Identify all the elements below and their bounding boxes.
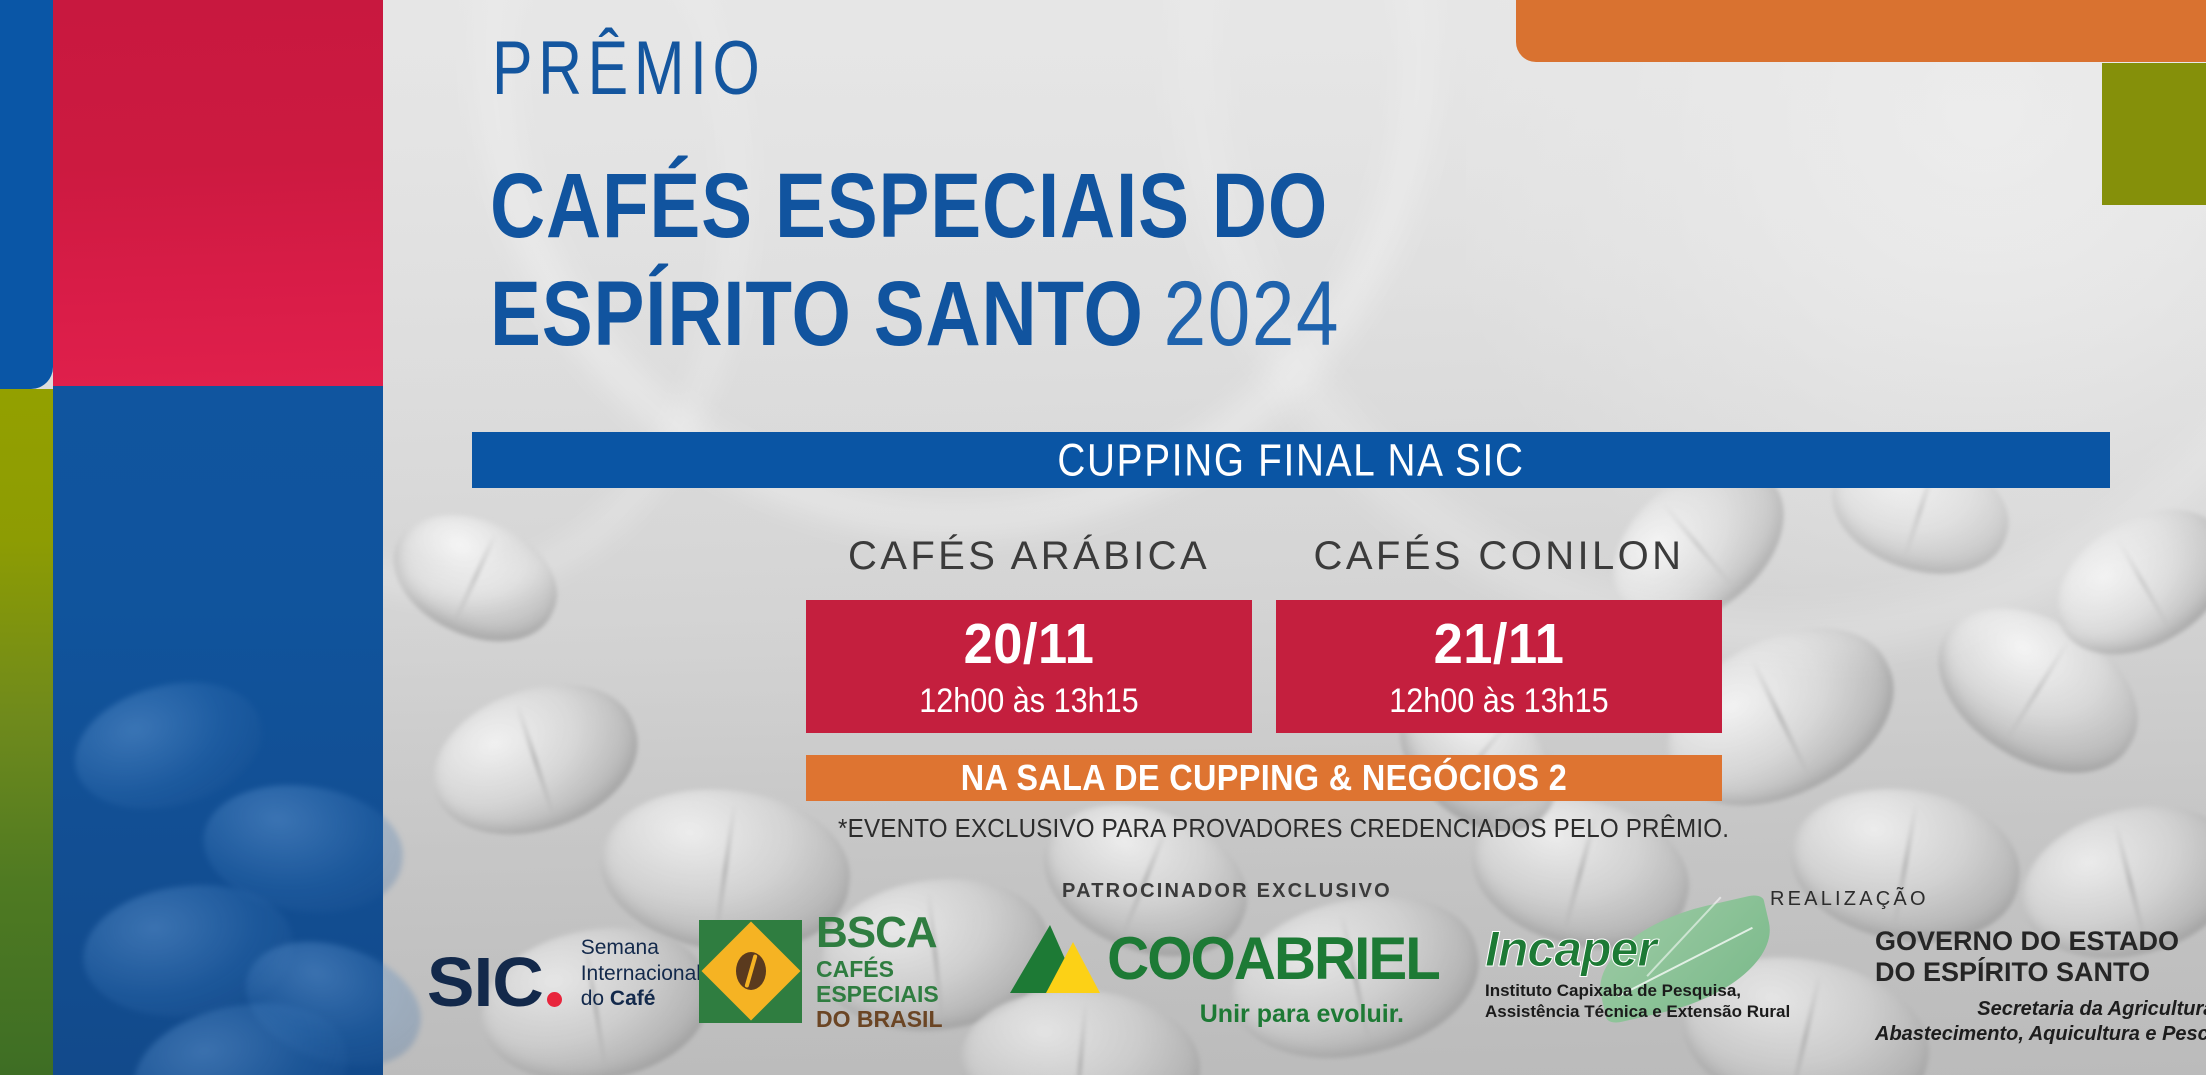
sic-wordmark: SIC bbox=[427, 951, 543, 1014]
session-date-card-arabica: 20/11 12h00 às 13h15 bbox=[806, 600, 1252, 733]
top-orange-bar bbox=[1516, 0, 2206, 62]
governo-title: GOVERNO DO ESTADO DO ESPÍRITO SANTO bbox=[1875, 926, 2206, 989]
governo-title-line1: GOVERNO DO ESTADO bbox=[1875, 926, 2179, 956]
footnote-text: *EVENTO EXCLUSIVO PARA PROVADORES CREDEN… bbox=[838, 815, 1690, 841]
bsca-sub3: DO BRASIL bbox=[816, 1008, 943, 1031]
sic-tagline: Semana Internacional do Café bbox=[581, 935, 701, 1012]
edition-year: 2024 bbox=[1164, 268, 1341, 360]
session-category-arabica: CAFÉS ARÁBICA bbox=[806, 536, 1252, 576]
event-banner-label: CUPPING FINAL NA SIC bbox=[587, 438, 1996, 483]
cooabriel-lockup: COOABRIEL bbox=[1032, 925, 1422, 993]
logo-cooabriel: PATROCINADOR EXCLUSIVO COOABRIEL Unir pa… bbox=[1032, 880, 1422, 1027]
logo-governo-es: REALIZAÇÃO GOVERNO DO ESTADO DO ESPÍRITO… bbox=[1875, 880, 2206, 1047]
sic-tagline-line3-prefix: do bbox=[581, 987, 610, 1010]
session-date-conilon: 21/11 bbox=[1434, 616, 1565, 673]
session-time-conilon: 12h00 às 13h15 bbox=[1389, 684, 1609, 718]
event-banner-bar: CUPPING FINAL NA SIC bbox=[472, 432, 2110, 488]
cooabriel-tagline: Unir para evoluir. bbox=[1032, 1002, 1422, 1027]
bsca-wordmark: BSCA bbox=[816, 911, 943, 955]
governo-title-line2: DO ESPÍRITO SANTO bbox=[1875, 957, 2150, 987]
session-time-arabica: 12h00 às 13h15 bbox=[919, 684, 1139, 718]
page-title-line1: CAFÉS ESPECIAIS DO bbox=[490, 160, 1328, 252]
governo-subtitle-line2: Abastecimento, Aquicultura e Pesca bbox=[1875, 1023, 2206, 1045]
top-right-olive-block bbox=[2102, 63, 2206, 205]
logo-sic: SIC Semana Internacional do Café bbox=[428, 935, 701, 1014]
sic-tagline-line2: Internacional bbox=[581, 962, 701, 985]
bsca-flag-icon bbox=[699, 920, 802, 1023]
governo-subtitle-line1: Secretaria da Agricultura, bbox=[1977, 998, 2206, 1020]
promotional-banner: PRÊMIO CAFÉS ESPECIAIS DO ESPÍRITO SANTO… bbox=[0, 0, 2206, 1075]
page-title-line2-wrap: ESPÍRITO SANTO 2024 bbox=[490, 268, 1340, 360]
incaper-sub1: Instituto Capixaba de Pesquisa, bbox=[1485, 980, 1765, 1001]
logo-incaper: Incaper Instituto Capixaba de Pesquisa, … bbox=[1485, 924, 1765, 1023]
sic-dot-icon bbox=[547, 992, 562, 1007]
session-date-arabica: 20/11 bbox=[964, 616, 1095, 673]
venue-label: NA SALA DE CUPPING & NEGÓCIOS 2 bbox=[961, 760, 1567, 796]
left-blue-strip bbox=[0, 0, 53, 389]
cooabriel-mountain-icon bbox=[1010, 925, 1106, 993]
left-red-block bbox=[53, 0, 383, 386]
yellow-triangle-icon bbox=[1046, 942, 1100, 993]
incaper-sub2: Assistência Técnica e Extensão Rural bbox=[1485, 1001, 1765, 1022]
bsca-wordmark-block: BSCA CAFÉS ESPECIAIS DO BRASIL bbox=[816, 911, 943, 1031]
cooabriel-wordmark: COOABRIEL bbox=[1107, 929, 1439, 989]
realization-kicker: REALIZAÇÃO bbox=[1770, 888, 2206, 911]
page-title-line2: ESPÍRITO SANTO bbox=[490, 268, 1144, 360]
bsca-diamond-icon bbox=[701, 922, 800, 1021]
logo-row: SIC Semana Internacional do Café BSCA CA… bbox=[0, 880, 2206, 1075]
session-category-conilon: CAFÉS CONILON bbox=[1276, 536, 1722, 576]
sponsor-kicker: PATROCINADOR EXCLUSIVO bbox=[1032, 880, 1422, 903]
eyebrow-text: PRÊMIO bbox=[492, 31, 765, 107]
sic-tagline-line1: Semana bbox=[581, 936, 659, 959]
governo-text-block: REALIZAÇÃO GOVERNO DO ESTADO DO ESPÍRITO… bbox=[1875, 880, 2206, 1047]
sic-tagline-line3-bold: Café bbox=[610, 987, 656, 1010]
session-date-card-conilon: 21/11 12h00 às 13h15 bbox=[1276, 600, 1722, 733]
logo-bsca: BSCA CAFÉS ESPECIAIS DO BRASIL bbox=[699, 911, 943, 1031]
incaper-wordmark: Incaper bbox=[1485, 924, 1765, 974]
coffee-bean-icon bbox=[736, 952, 766, 990]
governo-subtitle: Secretaria da Agricultura, Abastecimento… bbox=[1875, 997, 2206, 1047]
bsca-sub1: CAFÉS bbox=[816, 958, 943, 981]
bsca-sub2: ESPECIAIS bbox=[816, 983, 943, 1006]
venue-bar: NA SALA DE CUPPING & NEGÓCIOS 2 bbox=[806, 755, 1722, 801]
